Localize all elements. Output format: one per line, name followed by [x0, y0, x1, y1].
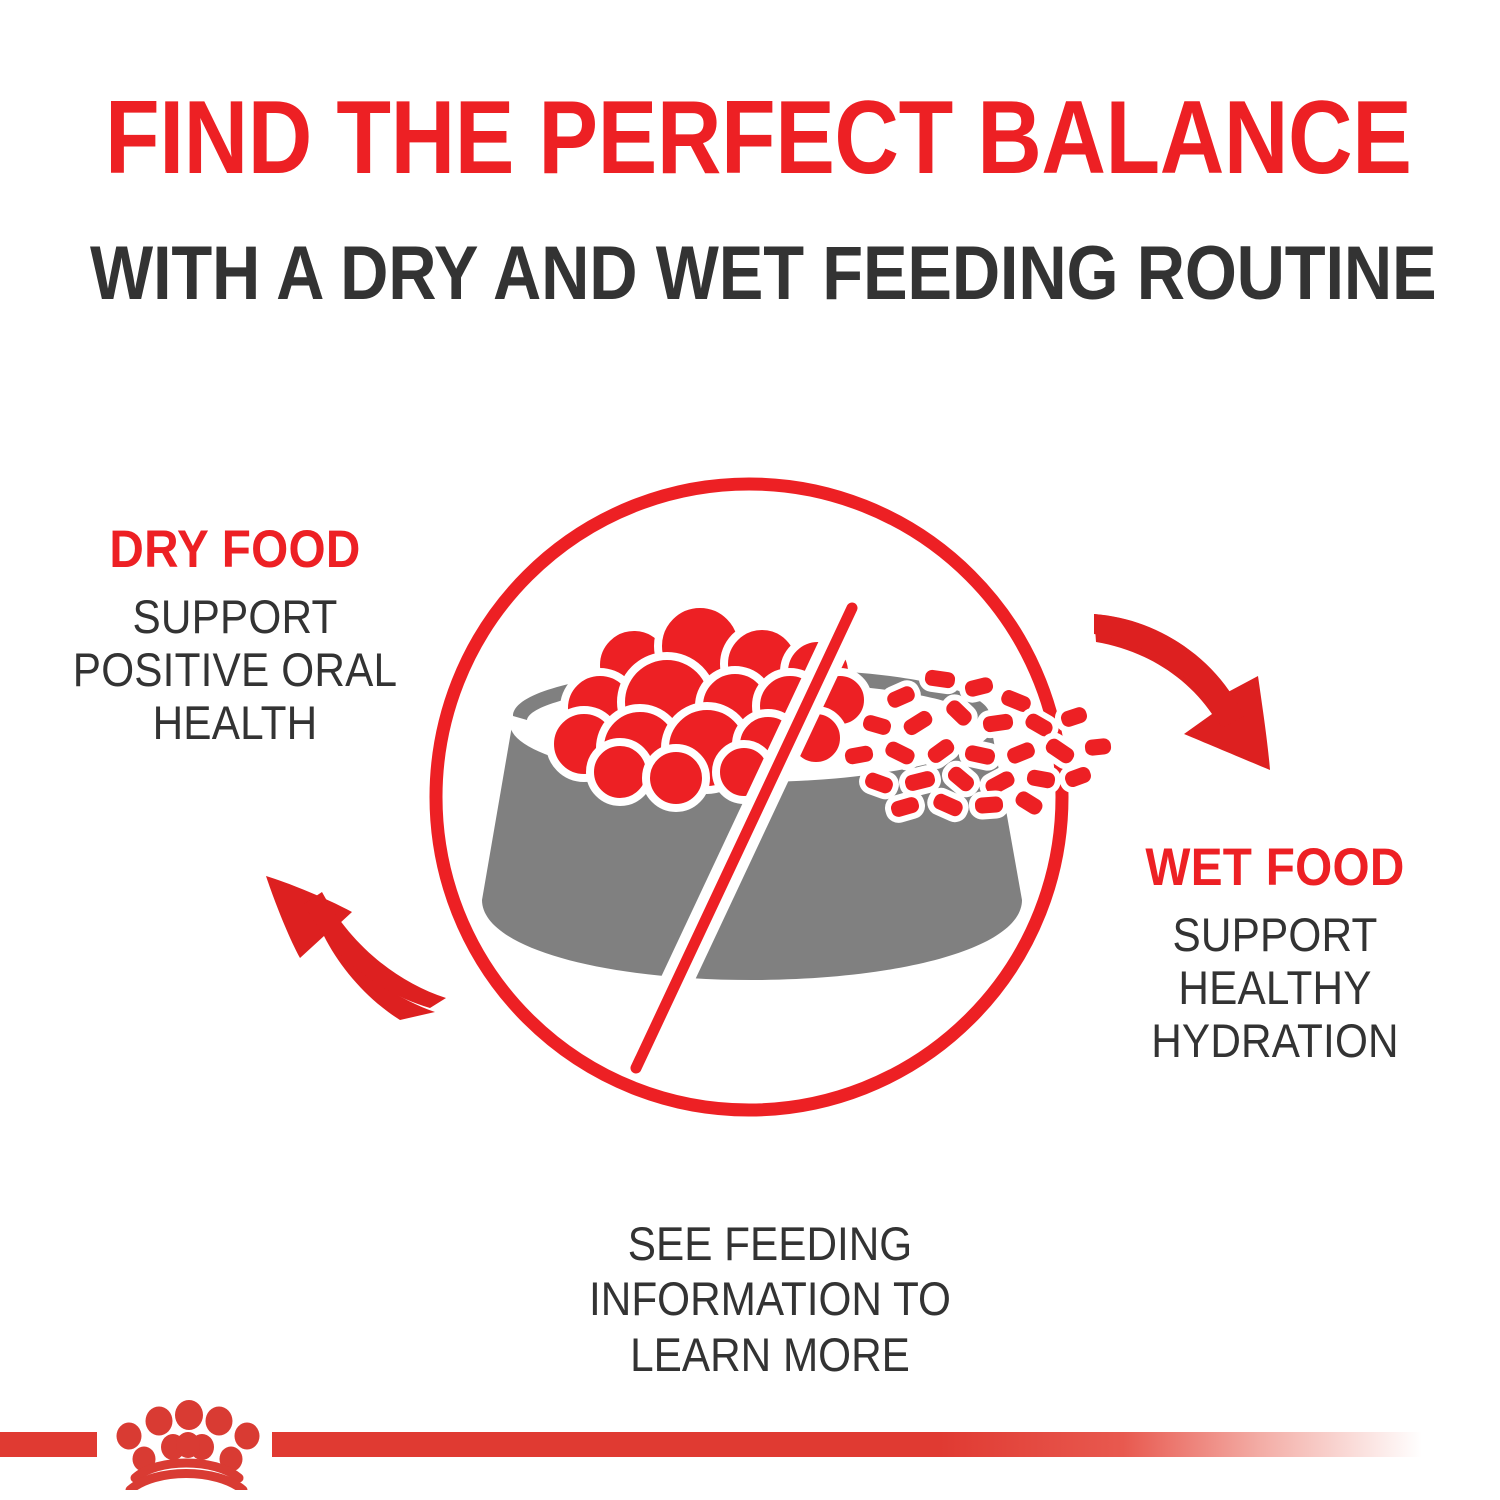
dry-food-title: DRY FOOD [60, 520, 411, 579]
dry-food-block: DRY FOOD SUPPORT POSITIVE ORAL HEALTH [40, 520, 430, 749]
wet-food-block: WET FOOD SUPPORT HEALTHY HYDRATION [1075, 838, 1475, 1067]
royal-canin-crown-logo [97, 1400, 275, 1490]
feeding-info-caption: SEE FEEDING INFORMATION TO LEARN MORE [518, 1216, 1022, 1382]
wet-food-title: WET FOOD [1095, 838, 1455, 897]
dry-food-description: SUPPORT POSITIVE ORAL HEALTH [60, 591, 411, 749]
round-kibble-pile [550, 604, 868, 808]
curved-arrow-down-right-icon [1094, 614, 1270, 770]
page-title: FIND THE PERFECT BALANCE [105, 86, 1395, 190]
red-circle-outline [436, 484, 1062, 1110]
red-diagonal-divider [636, 608, 852, 1068]
wet-food-description: SUPPORT HEALTHY HYDRATION [1095, 909, 1455, 1067]
footer-bar-right-segment [272, 1432, 1422, 1457]
wet-food-chunks [840, 666, 1115, 823]
pet-food-bowl [482, 666, 1022, 980]
footer-bar-left-segment [0, 1432, 97, 1457]
curved-arrow-up-left-icon [266, 876, 446, 1020]
infographic-canvas: FIND THE PERFECT BALANCE WITH A DRY AND … [0, 0, 1500, 1500]
page-subtitle: WITH A DRY AND WET FEEDING ROUTINE [90, 236, 1410, 312]
brand-footer [0, 1400, 1500, 1500]
